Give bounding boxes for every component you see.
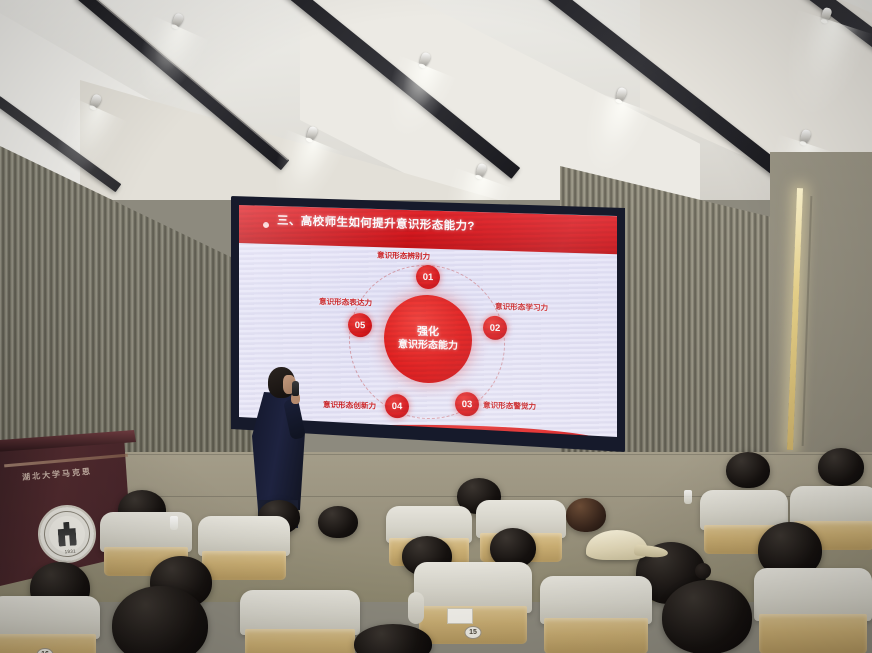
seat-back [414, 562, 532, 613]
seat-back [540, 576, 652, 624]
seat-lower-panel: 15 [419, 606, 528, 644]
diagram-node-02[interactable]: 02 [483, 316, 507, 341]
seat-card [447, 608, 473, 624]
seat[interactable]: 15 [414, 562, 532, 644]
diagram-label-04: 意识形态创新力 [323, 399, 376, 411]
spotlight-5 [614, 86, 628, 103]
emblem-year: 1931 [58, 548, 82, 555]
diagram-node-04[interactable]: 04 [385, 394, 409, 419]
seat-back [100, 512, 192, 552]
seat-back [0, 596, 100, 639]
wall-right-far [770, 152, 872, 492]
seat-lower-panel: 16 [0, 634, 96, 653]
water-bottle [684, 490, 692, 504]
spotlight-4 [305, 125, 319, 142]
seat-number: 15 [464, 626, 481, 639]
seat[interactable]: 16 [0, 596, 100, 653]
microphone-icon [292, 381, 299, 396]
seat[interactable] [198, 516, 290, 580]
seat[interactable] [240, 590, 360, 653]
audience-head [566, 498, 606, 532]
seat[interactable] [540, 576, 652, 653]
diagram-node-03[interactable]: 03 [455, 392, 479, 417]
audience-head [818, 448, 864, 486]
water-bottle [170, 516, 178, 530]
slide-diagram: 强化 意识形态能力 意识形态辨别力 01 意识形态学习力 02 03 意识形态警… [315, 250, 539, 432]
seat-armrest [408, 592, 424, 625]
seat-lower-panel [245, 629, 355, 653]
seat-lower-panel [202, 551, 287, 580]
diagram-center-line1: 强化 [417, 325, 439, 339]
diagram-label-03: 意识形态警觉力 [483, 400, 536, 412]
diagram-node-01[interactable]: 01 [416, 265, 440, 290]
diagram-center-line2: 意识形态能力 [398, 339, 458, 354]
seat-back [790, 486, 872, 526]
audience-head [318, 506, 358, 538]
seat-back [754, 568, 872, 621]
seat-back [198, 516, 290, 556]
spotlight-1 [170, 12, 184, 29]
seat-back [240, 590, 360, 635]
ceiling [0, 0, 872, 200]
diagram-label-05: 意识形态表达力 [319, 296, 372, 308]
seat[interactable] [754, 568, 872, 653]
seat-back [700, 490, 788, 530]
seat-lower-panel [759, 614, 868, 653]
seat-number: 16 [36, 648, 53, 653]
audience-head [726, 452, 770, 488]
diagram-node-05[interactable]: 05 [348, 313, 372, 338]
lecture-hall-photo: 三、高校师生如何提升意识形态能力? 强化 意识形态能力 意识形态辨别力 01 意… [0, 0, 872, 653]
diagram-label-02: 意识形态学习力 [495, 301, 548, 313]
diagram-label-01: 意识形态辨别力 [377, 250, 430, 262]
slide-title-bullet-icon [263, 222, 269, 228]
seat-lower-panel [544, 618, 647, 653]
audience-head-foreground [662, 580, 752, 653]
